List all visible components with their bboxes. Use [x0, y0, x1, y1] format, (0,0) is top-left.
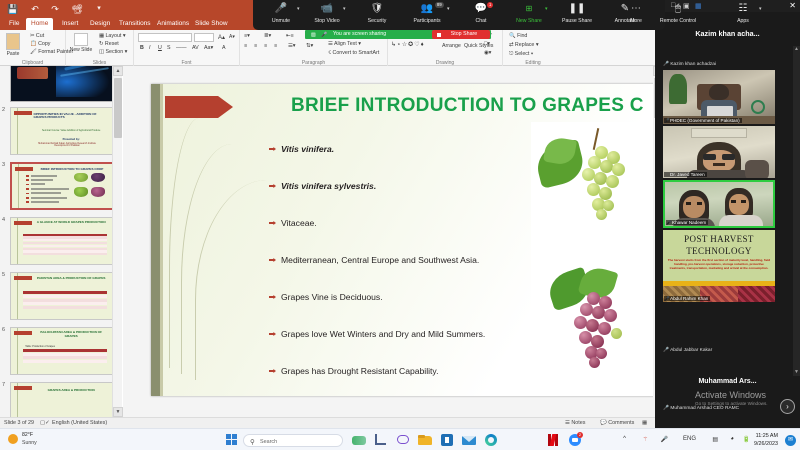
- slide-bullet[interactable]: Grapes has Drought Resistant Capability.: [281, 366, 438, 376]
- bullet-arrow-icon: [269, 147, 276, 151]
- grapes-image[interactable]: [531, 122, 656, 382]
- tab-slide-show[interactable]: Slide Show: [190, 18, 233, 30]
- font-color-button[interactable]: A: [222, 45, 226, 51]
- more-icon[interactable]: ▾: [92, 3, 106, 15]
- participant-name: Dr. Javed Tareen: [664, 172, 707, 177]
- taskbar-search[interactable]: ⚲ Search: [243, 434, 343, 447]
- paste-icon[interactable]: [6, 33, 20, 50]
- activate-windows-title: Activate Windows: [695, 390, 766, 400]
- find-label: Find: [517, 33, 527, 39]
- convert-smartart-button[interactable]: ☇ Convert to SmartArt: [328, 50, 379, 56]
- bullets-icon[interactable]: ≡▾: [244, 33, 250, 39]
- tab-transitions[interactable]: Transitions: [114, 18, 156, 30]
- thumbnail-number: 7: [2, 382, 5, 388]
- ribbon-group-editing: 🔍 Find ⇄ Replace ▾ ⎋ Select ▾ Editing: [503, 30, 563, 66]
- video-camera-icon: 📹: [299, 3, 355, 15]
- decrease-indent-icon[interactable]: ⇤≡: [286, 33, 294, 39]
- ribbon-group-clipboard: Paste ✂ Cut 📋 Copy 🖌 Format Painter Clip…: [0, 30, 66, 66]
- replace-label: Replace: [515, 42, 534, 48]
- thumbnail-slide-5[interactable]: PAKISTAN AREA & PRODUCTION OF GRAPES: [10, 272, 114, 320]
- bullet-text: Vitis vinifera sylvestris.: [281, 181, 376, 191]
- select-button[interactable]: ⎋ Select ▾: [509, 51, 533, 58]
- thumbnail-title: GRAPES AREA & PRODUCTION: [33, 389, 108, 393]
- mic-muted-icon: 🎤: [663, 406, 669, 411]
- new-slide-icon[interactable]: [74, 33, 88, 46]
- thumbnail-title: BRIEF INTRODUCTION TO GRAPES CROP: [36, 168, 108, 172]
- bullet-text: Vitaceae.: [281, 218, 317, 228]
- netflix-icon[interactable]: [546, 433, 560, 447]
- strikethrough-icon[interactable]: ――: [176, 45, 187, 51]
- align-left-icon[interactable]: ≡: [244, 43, 247, 49]
- section-button[interactable]: ◫ Section ▾: [99, 49, 127, 55]
- participant-name: Abdul Rahim Khan: [664, 296, 710, 301]
- comments-label: Comments: [608, 420, 634, 426]
- current-slide[interactable]: BRIEF INTRODUCTION TO GRAPES C: [151, 84, 656, 396]
- copy-label: Copy: [38, 41, 50, 47]
- scrollbar-thumb[interactable]: [114, 78, 122, 138]
- numbering-icon[interactable]: ≣▾: [264, 33, 271, 39]
- chevron-up-icon[interactable]: ^: [623, 436, 626, 442]
- shield-icon: 🛡: [349, 3, 405, 15]
- slide-left-band-light: [160, 84, 163, 396]
- align-right-icon[interactable]: ≡: [264, 43, 267, 49]
- align-text-label: Align Text: [334, 41, 357, 47]
- present-icon[interactable]: 📽: [70, 3, 84, 15]
- participant-video-tile[interactable]: 🎤 Khawar Nadeem: [663, 180, 775, 228]
- shape-effects-icon[interactable]: ◉▾: [484, 50, 491, 56]
- start-button[interactable]: [225, 433, 239, 447]
- notifications-icon[interactable]: ✉: [785, 435, 796, 446]
- bullet-text: Vitis vinifera.: [281, 144, 334, 154]
- scroll-down-button[interactable]: ▼: [793, 369, 800, 376]
- participant-video-tile[interactable]: 🎤 PHDEC (Government of Pakistan): [663, 70, 775, 124]
- microphone-icon[interactable]: 🎤: [661, 436, 668, 443]
- shape-outline-icon[interactable]: □▾: [484, 41, 490, 47]
- title-arrow-shape: [165, 96, 233, 118]
- participant-name: Kazim khan achadzai: [670, 62, 716, 67]
- bold-button[interactable]: B: [140, 45, 144, 51]
- align-center-icon[interactable]: ≡: [254, 43, 257, 49]
- zoom-participants-label: Participants: [399, 18, 455, 24]
- cut-button[interactable]: ✂ Cut: [30, 33, 44, 39]
- apps-icon: ☷: [715, 3, 771, 15]
- underline-button[interactable]: U: [158, 45, 162, 51]
- find-button[interactable]: 🔍 Find: [509, 33, 527, 39]
- layout-button[interactable]: ▦ Layout ▾: [99, 33, 126, 39]
- scroll-up-button[interactable]: ▲: [793, 46, 800, 53]
- thumbnail-slide-3[interactable]: BRIEF INTRODUCTION TO GRAPES CROP: [10, 162, 114, 210]
- next-page-button[interactable]: ›: [780, 399, 795, 414]
- redo-icon[interactable]: ↷: [48, 3, 62, 15]
- thumbnail-title: BALOCHISTAN AREA & PRODUCTION OF GRAPES: [33, 331, 108, 339]
- layout-label: Layout: [105, 33, 121, 39]
- change-case-icon[interactable]: Aa▾: [204, 45, 213, 51]
- paste-button[interactable]: Paste: [1, 51, 25, 57]
- bottom-speaker-name: Muhammad Ars...: [655, 378, 800, 385]
- participant-name: Muhammad Arshad CEO RAMC: [670, 406, 739, 411]
- tab-animations[interactable]: Animations: [152, 18, 194, 30]
- weather-condition: Sunny: [22, 440, 37, 446]
- participant-name: PHDEC (Government of Pakistan): [664, 118, 742, 123]
- ribbon-group-slides: New Slide ▦ Layout ▾ ↻ Reset ◫ Section ▾…: [66, 30, 134, 66]
- active-speaker-name: Kazim khan acha...: [655, 29, 800, 38]
- save-icon[interactable]: 💾: [6, 3, 20, 15]
- thumbnail-slide-7[interactable]: GRAPES AREA & PRODUCTION: [10, 382, 114, 417]
- thumbnail-title: OPPORTUNITIES IN VALUE - ADDITION OF GRA…: [33, 113, 108, 121]
- zoom-icon[interactable]: 2: [568, 433, 582, 447]
- sun-icon: [8, 434, 18, 444]
- participant-video-tile[interactable]: Dr. Javed Tareen: [663, 126, 775, 178]
- slide-bullet[interactable]: Mediterranean, Central Europe and Southw…: [281, 255, 479, 265]
- chevron-down-icon[interactable]: ▾: [759, 6, 762, 12]
- thumbnail-number: 4: [2, 217, 5, 223]
- thumbnail-title: A GLANCE AT WORLD GRAPES PRODUCTION: [33, 221, 108, 225]
- shadow-button[interactable]: S: [167, 45, 171, 51]
- bullet-text: Grapes Vine is Deciduous.: [281, 292, 383, 302]
- thumbnail-number: 6: [2, 327, 5, 333]
- language-indicator[interactable]: English (United States): [52, 420, 107, 426]
- screen-share-icon: ▧: [311, 32, 316, 38]
- character-spacing-icon[interactable]: AV: [192, 45, 199, 51]
- ribbon-group-font: A▴ A▾ B I U S ―― AV Aa▾ A Font: [134, 30, 240, 66]
- undo-icon[interactable]: ↶: [28, 3, 42, 15]
- replace-button[interactable]: ⇄ Replace ▾: [509, 42, 539, 48]
- slide-bullet[interactable]: Grapes Vine is Deciduous.: [281, 292, 383, 302]
- view-normal-icon[interactable]: ▦: [642, 420, 647, 426]
- tab-home[interactable]: Home: [26, 18, 53, 30]
- notes-button[interactable]: ☰ Notes: [565, 420, 585, 426]
- taskbar-clock-time[interactable]: 11:25 AM: [738, 433, 778, 439]
- notes-label: Notes: [571, 420, 585, 426]
- stop-square-icon: [437, 33, 441, 37]
- thumbnail-slide-6[interactable]: BALOCHISTAN AREA & PRODUCTION OF GRAPES …: [10, 327, 114, 375]
- slide-title[interactable]: BRIEF INTRODUCTION TO GRAPES C: [291, 95, 644, 117]
- thumbnail-slide-1[interactable]: [10, 66, 114, 102]
- search-icon: ⚲: [250, 438, 255, 446]
- participant-name-strip: 🎤 Kazim khan achadzai: [663, 62, 800, 67]
- poster-title-line1: POST HARVEST: [663, 234, 775, 244]
- scroll-up-button[interactable]: ▲: [113, 66, 123, 76]
- microphone-icon[interactable]: 🎤: [321, 32, 327, 38]
- scroll-down-button[interactable]: ▼: [113, 407, 123, 417]
- windows-taskbar[interactable]: 82°F Sunny ⚲ Search: [0, 428, 800, 450]
- line-spacing-icon[interactable]: ⇅▾: [306, 43, 313, 49]
- justify-icon[interactable]: ≡: [274, 43, 277, 49]
- participants-count-badge: 89: [435, 2, 444, 8]
- edge-icon[interactable]: [484, 433, 498, 447]
- slide-editing-area[interactable]: BRIEF INTRODUCTION TO GRAPES C: [123, 66, 663, 417]
- slide-left-band: [151, 84, 160, 396]
- chevron-down-icon[interactable]: ▾: [447, 6, 450, 12]
- increase-font-icon[interactable]: A▴: [218, 34, 225, 41]
- decrease-font-icon[interactable]: A▾: [229, 34, 235, 40]
- zoom-meeting-window[interactable]: − □ ▣ ▦ ✕ Kazim khan acha... 🎤 Kazim kha…: [655, 0, 800, 428]
- convert-smartart-label: Convert to SmartArt: [333, 50, 380, 56]
- zoom-meeting-toolbar[interactable]: 🎤 ▾ Unmute 📹 ▾ Stop Video 🛡 Security 👥 8…: [253, 0, 665, 30]
- shape-gallery-row2[interactable]: ↳⋆☆✪♡♦: [391, 41, 425, 48]
- new-slide-button[interactable]: New Slide: [66, 47, 96, 53]
- zoom-more-label: More: [613, 18, 659, 24]
- tab-insert[interactable]: Insert: [57, 18, 83, 30]
- zoom-apps-label: Apps: [715, 18, 771, 24]
- chevron-down-icon[interactable]: ▾: [545, 6, 548, 12]
- thumbnail-slide-4[interactable]: A GLANCE AT WORLD GRAPES PRODUCTION: [10, 217, 114, 265]
- slide-bullet[interactable]: Vitaceae.: [281, 218, 317, 228]
- poster-body: The harvest starts from the first sectio…: [667, 259, 771, 270]
- accessibility-icon[interactable]: ▢✓: [40, 420, 50, 426]
- zoom-stop-video-label: Stop Video: [299, 18, 355, 24]
- teams-icon[interactable]: [374, 433, 388, 447]
- thumbnail-number: 3: [2, 162, 5, 168]
- tab-file[interactable]: File: [4, 18, 24, 30]
- zoom-panel-scrollbar[interactable]: ▲ ▼: [793, 46, 800, 376]
- language-indicator[interactable]: ENG: [683, 436, 696, 442]
- slide-counter: Slide 3 of 29: [4, 420, 34, 426]
- thumbnail-slide-2[interactable]: OPPORTUNITIES IN VALUE - ADDITION OF GRA…: [10, 107, 114, 155]
- arrange-button[interactable]: Arrange: [442, 43, 461, 49]
- mic-muted-icon: 🎤: [663, 348, 669, 353]
- reset-button[interactable]: ↻ Reset: [99, 41, 119, 47]
- align-text-button[interactable]: ☰ Align Text ▾: [328, 41, 361, 47]
- thumbnail-title: PAKISTAN AREA & PRODUCTION OF GRAPES: [33, 277, 108, 281]
- mail-icon[interactable]: [462, 433, 476, 447]
- bullet-text: Grapes has Drought Resistant Capability.: [281, 366, 438, 376]
- mic-muted-icon: 🎤: [663, 62, 669, 67]
- ellipsis-icon: ⋯: [613, 3, 659, 15]
- section-label: Section: [105, 49, 123, 55]
- participant-name-strip: 🎤 Abdul Jabbar Kakar: [663, 348, 800, 353]
- thumbnail-scrollbar[interactable]: ▲ ▼: [112, 66, 122, 417]
- taskbar-clock-date[interactable]: 9/26/2023: [738, 441, 778, 447]
- slide-thumbnail-pane[interactable]: 2 OPPORTUNITIES IN VALUE - ADDITION OF G…: [0, 66, 122, 417]
- chevron-down-icon[interactable]: ▾: [343, 6, 346, 12]
- comments-button[interactable]: 💬 Comments: [600, 420, 634, 426]
- slide-bullet[interactable]: Vitis vinifera.: [281, 144, 334, 154]
- participant-name: Abdul Jabbar Kakar: [670, 348, 712, 353]
- thumbnail-number: 5: [2, 272, 5, 278]
- cut-label: Cut: [36, 33, 44, 39]
- store-icon[interactable]: [440, 433, 454, 447]
- bullet-text: Mediterranean, Central Europe and Southw…: [281, 255, 479, 265]
- font-size-combo[interactable]: [194, 33, 214, 42]
- zoom-security-label: Security: [349, 18, 405, 24]
- close-icon[interactable]: ✕: [789, 1, 796, 11]
- copy-button[interactable]: 📋 Copy: [30, 41, 50, 47]
- screen-sharing-text: You are screen sharing: [333, 31, 386, 37]
- antivirus-icon[interactable]: ⚚: [643, 436, 648, 443]
- italic-button[interactable]: I: [149, 45, 150, 51]
- slide-bullet[interactable]: Grapes love Wet Winters and Dry and Mild…: [281, 329, 485, 339]
- chat-icon[interactable]: [396, 433, 410, 447]
- search-placeholder: Search: [260, 439, 277, 445]
- thumbnail-number: 2: [2, 107, 5, 113]
- participant-name: Khawar Nadeem: [666, 220, 708, 225]
- shared-poster-tile[interactable]: POST HARVEST TECHNOLOGY The harvest star…: [663, 230, 775, 302]
- font-family-combo[interactable]: [138, 33, 192, 42]
- file-explorer-icon[interactable]: [418, 433, 432, 447]
- slide-bullet[interactable]: Vitis vinifera sylvestris.: [281, 181, 376, 191]
- weather-temperature: 82°F: [22, 432, 33, 438]
- stop-share-label: Stop Share: [451, 31, 478, 37]
- select-label: Select: [515, 51, 530, 57]
- widgets-icon[interactable]: [352, 433, 366, 447]
- tab-design[interactable]: Design: [85, 18, 115, 30]
- poster-title-line2: TECHNOLOGY: [663, 246, 775, 256]
- bullet-text: Grapes love Wet Winters and Dry and Mild…: [281, 329, 485, 339]
- network-icon[interactable]: ◕: [730, 436, 734, 442]
- reset-label: Reset: [105, 41, 119, 47]
- columns-icon[interactable]: ☰▾: [288, 43, 295, 49]
- display-icon[interactable]: ▤: [712, 436, 718, 443]
